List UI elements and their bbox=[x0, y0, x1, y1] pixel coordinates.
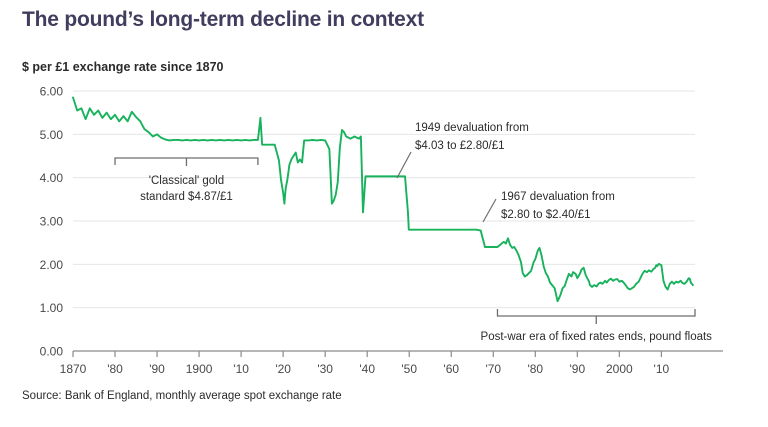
devaluation-1949-annotation-line: $4.03 to £2.80/£1 bbox=[415, 140, 505, 152]
y-tick-label: 2.00 bbox=[40, 258, 64, 272]
x-tick-label: '90 bbox=[149, 362, 165, 376]
x-tick-label: '30 bbox=[317, 362, 333, 376]
annotations-group: 'Classical' goldstandard $4.87/£11949 de… bbox=[115, 122, 712, 343]
y-tick-label: 6.00 bbox=[40, 85, 64, 99]
x-tick-label: '60 bbox=[443, 362, 459, 376]
y-tick-label: 5.00 bbox=[40, 128, 64, 142]
gridlines-group bbox=[73, 91, 695, 351]
gold-standard-annotation-line: 'Classical' gold bbox=[149, 175, 224, 187]
x-tick-label: '10 bbox=[233, 362, 249, 376]
x-tick-label: '90 bbox=[570, 362, 586, 376]
gold-standard-bracket bbox=[115, 158, 258, 166]
devaluation-1967-annotation-line: $2.80 to $2.40/£1 bbox=[501, 209, 591, 221]
x-tick-label: '80 bbox=[107, 362, 123, 376]
x-tick-label: '50 bbox=[401, 362, 417, 376]
devaluation-1967-annotation-line: 1967 devaluation from bbox=[501, 191, 615, 203]
x-tick-label: 2000 bbox=[606, 362, 633, 376]
x-axis-group bbox=[73, 351, 723, 357]
y-axis-tick-labels: 0.001.002.003.004.005.006.00 bbox=[40, 85, 64, 359]
y-tick-label: 0.00 bbox=[40, 345, 64, 359]
x-tick-label: 1900 bbox=[186, 362, 213, 376]
x-tick-label: '10 bbox=[654, 362, 670, 376]
devaluation-1949-leader-line bbox=[397, 152, 411, 178]
devaluation-1949-annotation-line: 1949 devaluation from bbox=[415, 122, 529, 134]
y-tick-label: 4.00 bbox=[40, 171, 64, 185]
x-tick-label: '80 bbox=[527, 362, 543, 376]
post-war-float-bracket bbox=[497, 309, 695, 324]
x-tick-label: '20 bbox=[275, 362, 291, 376]
x-tick-label: '40 bbox=[359, 362, 375, 376]
gold-standard-annotation-line: standard $4.87/£1 bbox=[140, 191, 233, 203]
x-tick-label: 1870 bbox=[60, 362, 87, 376]
y-tick-label: 1.00 bbox=[40, 301, 64, 315]
exchange-rate-line-chart: 0.001.002.003.004.005.006.00 1870'80'901… bbox=[0, 0, 768, 427]
y-tick-label: 3.00 bbox=[40, 215, 64, 229]
x-axis-tick-labels: 1870'80'901900'10'20'30'40'50'60'70'80'9… bbox=[60, 362, 670, 376]
devaluation-1967-leader-line bbox=[483, 199, 496, 222]
post-war-float-annotation-line: Post-war era of fixed rates ends, pound … bbox=[481, 331, 713, 343]
x-tick-label: '70 bbox=[485, 362, 501, 376]
